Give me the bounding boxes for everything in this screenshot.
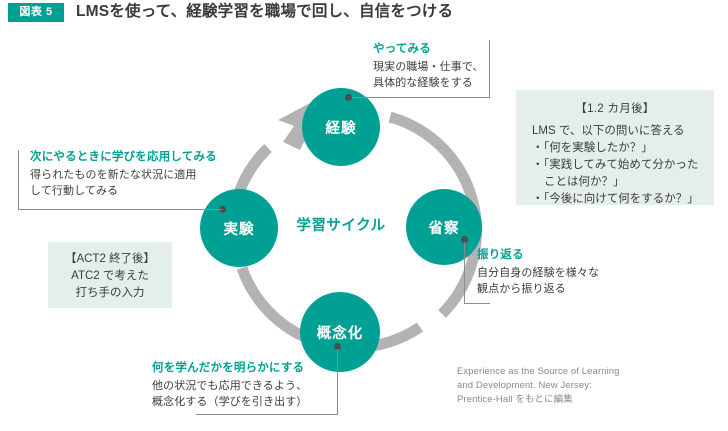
- connector-line-reflection-vertical: [464, 242, 465, 304]
- callout-reflection: 振り返る 自分自身の経験を様々な 観点から振り返る: [477, 246, 599, 297]
- callout-experience-line-1: 現実の職場・仕事で、: [373, 59, 484, 75]
- callout-conceptualization-heading: 何を学んだかを明らかにする: [152, 359, 307, 375]
- cycle-node-experiment-label: 実験: [224, 218, 255, 239]
- callout-experience-line-2: 具体的な経験をする: [373, 75, 484, 91]
- cycle-node-experiment[interactable]: 実験: [200, 189, 278, 267]
- figure-header: 図表 5 LMSを使って、経験学習を職場で回し、自信をつける: [0, 0, 728, 28]
- connector-line-experiment-vertical: [18, 150, 19, 210]
- connector-line-reflection-horizontal: [464, 303, 490, 304]
- callout-reflection-line-1: 自分自身の経験を様々な: [477, 265, 599, 281]
- callout-experiment-heading: 次にやるときに学びを応用してみる: [30, 148, 217, 164]
- callout-conceptualization: 何を学んだかを明らかにする 他の状況でも応用できるよう、 概念化する（学びを引き…: [152, 359, 307, 410]
- source-citation-line-1: Experience as the Source of Learning: [457, 365, 620, 379]
- lms-box-line-4: ことは何か？」: [532, 174, 714, 191]
- connector-dot-experience: [345, 94, 352, 101]
- callout-reflection-line-2: 観点から振り返る: [477, 281, 599, 297]
- source-citation-line-2: and Development. New Jersey:: [457, 379, 620, 393]
- lms-question-box: 【1.2 カ月後】 LMS で、以下の問いに答える ・「何を実験したか？」 ・「…: [516, 90, 714, 205]
- cycle-center-label: 学習サイクル: [282, 214, 400, 235]
- connector-line-conceptualization-horizontal: [196, 414, 338, 415]
- callout-experience: やってみる 現実の職場・仕事で、 具体的な経験をする: [373, 40, 484, 91]
- connector-line-experience-vertical: [489, 40, 490, 98]
- cycle-node-conceptualization[interactable]: 概念化: [300, 292, 380, 372]
- callout-experiment: 次にやるときに学びを応用してみる 得られたものを新たな状況に適用 して行動してみ…: [30, 148, 217, 199]
- act2-input-box: 【ACT2 終了後】 ATC2 で考えた 打ち手の入力: [48, 242, 172, 308]
- cycle-node-experience[interactable]: 経験: [302, 88, 380, 166]
- callout-experience-heading: やってみる: [373, 40, 484, 56]
- cycle-node-reflection-label: 省察: [429, 217, 460, 238]
- page-title: LMSを使って、経験学習を職場で回し、自信をつける: [76, 0, 453, 24]
- callout-experiment-line-1: 得られたものを新たな状況に適用: [30, 167, 217, 183]
- lms-box-line-2: ・「何を実験したか？」: [532, 140, 714, 157]
- callout-experiment-line-2: して行動してみる: [30, 183, 217, 199]
- cycle-node-conceptualization-label: 概念化: [317, 322, 364, 343]
- callout-reflection-heading: 振り返る: [477, 246, 599, 262]
- act2-box-line-2: ATC2 で考えた: [48, 268, 172, 285]
- source-citation: Experience as the Source of Learning and…: [457, 365, 620, 407]
- lms-box-line-1: LMS で、以下の問いに答える: [532, 123, 714, 140]
- callout-conceptualization-line-1: 他の状況でも応用できるよう、: [152, 378, 307, 394]
- cycle-node-experience-label: 経験: [326, 117, 357, 138]
- connector-line-experience-horizontal: [352, 97, 490, 98]
- lms-box-title: 【1.2 カ月後】: [516, 100, 714, 116]
- cycle-node-reflection[interactable]: 省察: [406, 189, 482, 265]
- connector-line-experiment-horizontal: [18, 209, 222, 210]
- act2-box-line-3: 打ち手の入力: [48, 285, 172, 302]
- source-citation-line-3: Prentice-Hall をもとに編集: [457, 393, 620, 407]
- figure-number-badge: 図表 5: [8, 3, 64, 22]
- callout-conceptualization-line-2: 概念化する（学びを引き出す）: [152, 394, 307, 410]
- act2-box-line-1: 【ACT2 終了後】: [48, 251, 172, 268]
- lms-box-line-3: ・「実践してみて始めて分かった: [532, 157, 714, 174]
- connector-line-conceptualization-vertical: [337, 349, 338, 415]
- lms-box-line-5: ・「今後に向けて何をするか？」: [532, 191, 714, 208]
